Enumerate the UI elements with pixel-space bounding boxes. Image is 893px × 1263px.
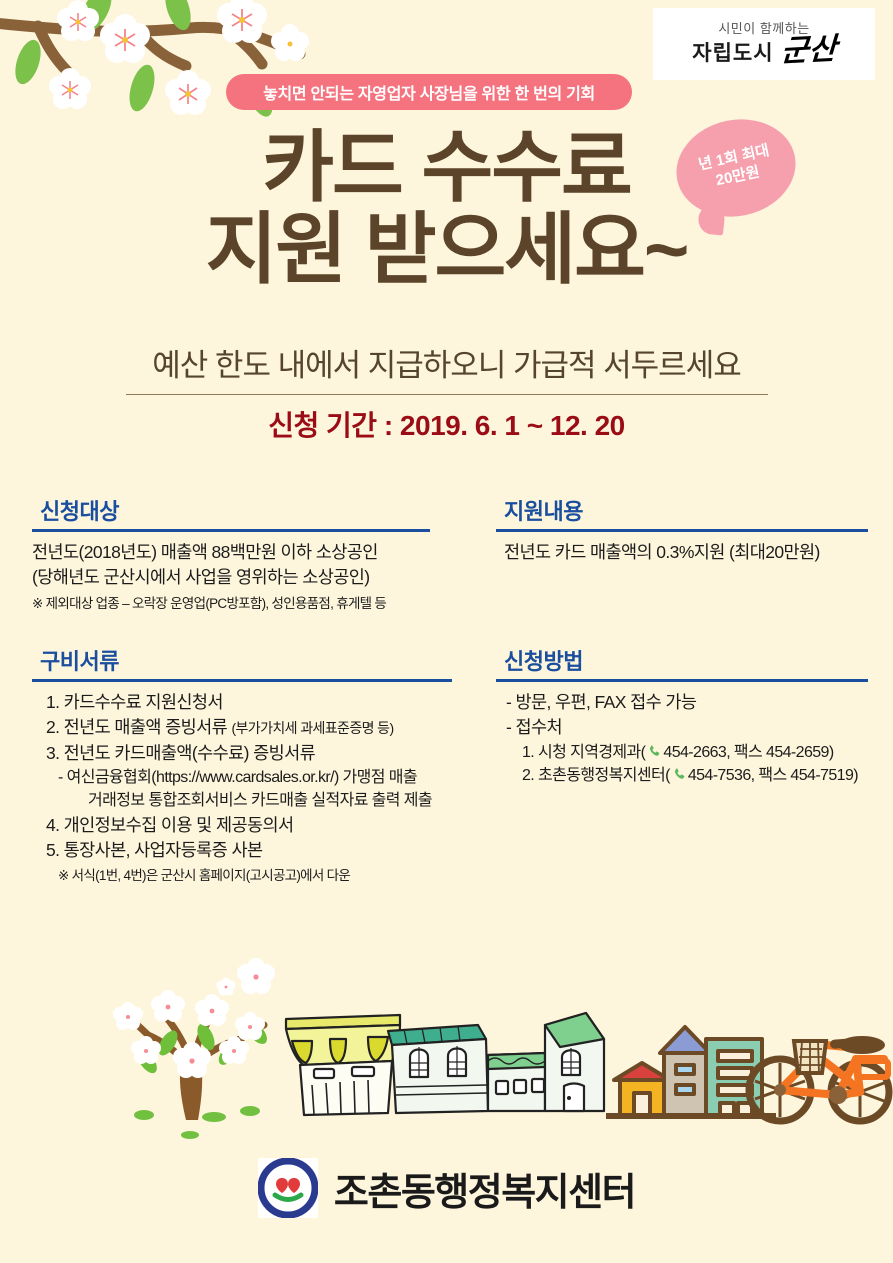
headline-line-2: 지원 받으세요~	[0, 210, 893, 290]
tree-blossoms	[113, 958, 275, 1078]
application-period: 신청 기간 : 2019. 6. 1 ~ 12. 20	[0, 404, 893, 444]
city-logo-name: 군산	[780, 35, 837, 68]
contact-2-close: )	[853, 767, 858, 784]
contact-1-label: 1. 시청 지역경제과(	[522, 744, 645, 761]
bottom-illustration	[0, 955, 893, 1155]
contact-2-fax-label: , 팩스	[751, 767, 791, 784]
doc-item-2: 2. 전년도 매출액 증빙서류	[46, 717, 227, 737]
contact-2-fax: 454-7519	[790, 767, 853, 784]
contact-2-phone: 454-7536	[688, 767, 751, 784]
section-support-content: 지원내용 전년도 카드 매출액의 0.3%지원 (최대20만원)	[496, 494, 868, 565]
doc-item-3-sub-2: 거래정보 통합조회서비스 카드매출 실적자료 출력 제출	[88, 792, 432, 809]
apply-line-1: - 방문, 우편, FAX 접수 가능	[506, 692, 696, 712]
contact-1-phone: 454-2663	[663, 744, 726, 761]
apply-line-2: - 접수처	[506, 717, 562, 737]
section-application-method: 신청방법 - 방문, 우편, FAX 접수 가능 - 접수처 1. 시청 지역경…	[496, 644, 868, 787]
section-application-target: 신청대상 전년도(2018년도) 매출액 88백만원 이하 소상공인 (당해년도…	[32, 494, 430, 613]
doc-item-5: 5. 통장사본, 사업자등록증 사본	[46, 840, 262, 860]
cherry-blossom-branch-icon	[0, 0, 310, 142]
list-item: 2. 전년도 매출액 증빙서류 (부가가치세 과세표준증명 등)	[32, 715, 452, 740]
divider	[126, 394, 768, 395]
poster-root: 시민이 함께하는 자립도시 군산 놓치면 안되는 자영업자 사장님을 위한 한 …	[0, 0, 893, 1263]
list-item: - 방문, 우편, FAX 접수 가능	[496, 690, 868, 715]
phone-icon	[647, 744, 662, 759]
subtitle: 예산 한도 내에서 지급하오니 가급적 서두르세요	[0, 340, 893, 385]
section-rule	[32, 529, 430, 532]
list-item-sub: - 여신금융협회(https://www.cardsales.or.kr/) 가…	[32, 766, 452, 789]
contact-2-label: 2. 초촌동행정복지센터(	[522, 767, 670, 784]
doc-item-4: 4. 개인정보수집 이용 및 제공동의서	[46, 815, 293, 835]
section-title-documents: 구비서류	[32, 644, 452, 676]
phone-icon	[672, 767, 687, 782]
green-roof-building-icon	[388, 1013, 604, 1113]
list-item-sub: 거래정보 통합조회서비스 카드매출 실적자료 출력 제출	[32, 789, 452, 812]
doc-item-3: 3. 전년도 카드매출액(수수료) 증빙서류	[46, 743, 315, 763]
city-buildings-icon	[606, 1027, 776, 1116]
doc-item-3-sub-1: - 여신금융협회(https://www.cardsales.or.kr/) 가…	[58, 769, 417, 786]
target-note: ※ 제외대상 업종 – 오락장 운영업(PC방포함), 성인용품점, 휴게텔 등	[32, 594, 430, 614]
section-required-documents: 구비서류 1. 카드수수료 지원신청서 2. 전년도 매출액 증빙서류 (부가가…	[32, 644, 452, 886]
section-rule	[496, 679, 868, 682]
section-title-apply: 신청방법	[496, 644, 868, 676]
promo-ribbon-text: 놓치면 안되는 자영업자 사장님을 위한 한 번의 기회	[263, 80, 595, 104]
section-title-support: 지원내용	[496, 494, 868, 526]
city-logo-subtitle: 자립도시	[692, 43, 773, 64]
contact-row: 1. 시청 지역경제과(454-2663, 팩스 454-2659)	[496, 741, 868, 764]
list-item: 3. 전년도 카드매출액(수수료) 증빙서류	[32, 741, 452, 766]
contact-1-fax-label: , 팩스	[726, 744, 766, 761]
support-line-1: 전년도 카드 매출액의 0.3%지원 (최대20만원)	[496, 540, 868, 565]
doc-item-2-note: (부가가치세 과세표준증명 등)	[231, 720, 393, 736]
contact-1-close: )	[829, 744, 834, 761]
gunsan-city-logo: 시민이 함께하는 자립도시 군산	[653, 8, 875, 80]
list-item: 1. 카드수수료 지원신청서	[32, 690, 452, 715]
target-line-1: 전년도(2018년도) 매출액 88백만원 이하 소상공인	[32, 540, 430, 565]
list-item: 5. 통장사본, 사업자등록증 사본	[32, 838, 452, 863]
target-line-2: (당해년도 군산시에서 사업을 영위하는 소상공인)	[32, 565, 430, 590]
doc-item-1: 1. 카드수수료 지원신청서	[46, 692, 223, 712]
bicycle-icon	[749, 1036, 889, 1121]
section-rule	[496, 529, 868, 532]
section-rule	[32, 679, 452, 682]
headline-line-1: 카드 수수료	[262, 123, 630, 211]
promo-ribbon: 놓치면 안되는 자영업자 사장님을 위한 한 번의 기회	[226, 74, 632, 110]
section-title-target: 신청대상	[32, 494, 430, 526]
list-item: 4. 개인정보수집 이용 및 제공동의서	[32, 813, 452, 838]
yellow-awning-shop-icon	[286, 1015, 400, 1115]
cherry-blossom-tree-icon	[113, 958, 275, 1139]
footer-organization-name: 조촌동행정복지센터	[334, 1161, 635, 1216]
list-item: - 접수처	[496, 715, 868, 740]
contact-1-fax: 454-2659	[766, 744, 829, 761]
gunsan-city-emblem-icon	[258, 1158, 318, 1218]
contact-row: 2. 초촌동행정복지센터(454-7536, 팩스 454-7519)	[496, 764, 868, 787]
documents-note: ※ 서식(1번, 4번)은 군산시 홈페이지(고시공고)에서 다운	[32, 866, 452, 886]
footer-organization-logo: 조촌동행정복지센터	[0, 1158, 893, 1218]
